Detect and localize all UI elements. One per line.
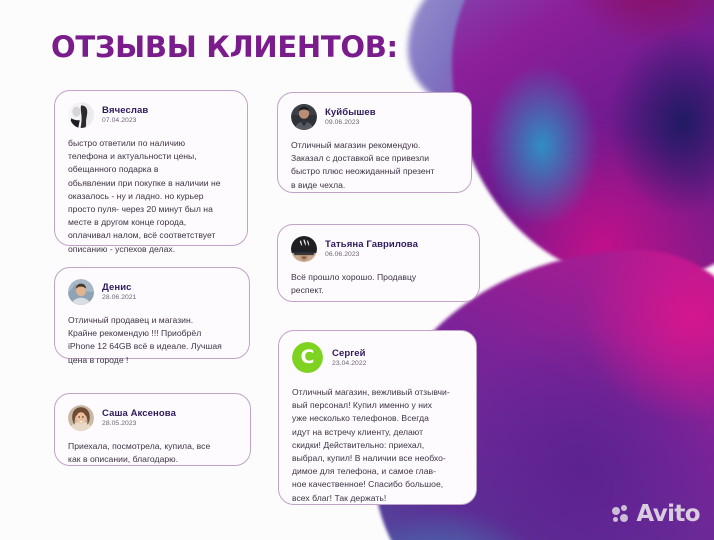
review-text: Приехала, посмотрела, купила, все как в …	[68, 440, 238, 466]
reviewer-name: Сергей	[332, 348, 367, 359]
review-date: 06.06.2023	[325, 251, 418, 259]
slide-canvas: ОТЗЫВЫ КЛИЕНТОВ: Вячеслав 07.04.2023 быс…	[0, 0, 714, 540]
review-card[interactable]: Вячеслав 07.04.2023 быстро ответили по н…	[54, 90, 248, 246]
review-meta: Татьяна Гаврилова 06.06.2023	[325, 239, 418, 259]
review-card[interactable]: Денис 28.06.2021 Отличный продавец и маг…	[54, 267, 250, 359]
avatar-photo-bottle-icon	[68, 102, 94, 128]
review-header: Денис 28.06.2021	[68, 279, 237, 305]
review-card[interactable]: Татьяна Гаврилова 06.06.2023 Всё прошло …	[277, 224, 480, 302]
review-header: Саша Аксенова 28.05.2023	[68, 405, 238, 431]
avito-brand-name: Avito	[636, 503, 700, 526]
review-header: Татьяна Гаврилова 06.06.2023	[291, 236, 467, 262]
reviewer-name: Куйбышев	[325, 107, 376, 118]
avatar-photo-woman-icon	[68, 405, 94, 431]
review-text: Всё прошло хорошо. Продавцу респект.	[291, 271, 467, 297]
review-meta: Куйбышев 09.06.2023	[325, 107, 376, 127]
review-date: 07.04.2023	[102, 117, 148, 125]
page-title: ОТЗЫВЫ КЛИЕНТОВ:	[51, 30, 398, 64]
review-meta: Сергей 23.04.2022	[332, 348, 367, 368]
avatar-initial: C	[292, 342, 323, 373]
review-date: 09.06.2023	[325, 119, 376, 127]
review-card[interactable]: Куйбышев 09.06.2023 Отличный магазин рек…	[277, 92, 472, 193]
review-header: Куйбышев 09.06.2023	[291, 104, 459, 130]
review-date: 28.05.2023	[102, 420, 176, 428]
review-meta: Вячеслав 07.04.2023	[102, 105, 148, 125]
avito-watermark: Avito	[612, 503, 700, 526]
review-text: Отличный магазин рекомендую. Заказал с д…	[291, 139, 459, 192]
review-card[interactable]: C Сергей 23.04.2022 Отличный магазин, ве…	[278, 330, 477, 505]
gradient-blob-top-right	[452, 0, 714, 282]
review-card[interactable]: Саша Аксенова 28.05.2023 Приехала, посмо…	[54, 393, 251, 466]
review-date: 23.04.2022	[332, 360, 367, 368]
reviewer-name: Татьяна Гаврилова	[325, 239, 418, 250]
reviewer-name: Вячеслав	[102, 105, 148, 116]
reviewer-name: Саша Аксенова	[102, 408, 176, 419]
gradient-circle-accent	[516, 312, 580, 376]
review-text: быстро ответили по наличию телефона и ак…	[68, 137, 235, 256]
avatar-photo-helmet-icon	[291, 236, 317, 262]
review-text: Отличный продавец и магазин. Крайне реко…	[68, 314, 237, 367]
avatar-photo-man-dark-icon	[291, 104, 317, 130]
avatar-photo-young-man-icon	[68, 279, 94, 305]
review-meta: Саша Аксенова 28.05.2023	[102, 408, 176, 428]
review-meta: Денис 28.06.2021	[102, 282, 137, 302]
review-header: C Сергей 23.04.2022	[292, 342, 464, 373]
reviewer-name: Денис	[102, 282, 137, 293]
review-text: Отличный магазин, вежливый отзывчи- вый …	[292, 386, 464, 505]
avatar-initial-letter-icon: C	[292, 342, 323, 373]
review-header: Вячеслав 07.04.2023	[68, 102, 235, 128]
avito-dots-logo-icon	[612, 505, 631, 524]
review-date: 28.06.2021	[102, 294, 137, 302]
